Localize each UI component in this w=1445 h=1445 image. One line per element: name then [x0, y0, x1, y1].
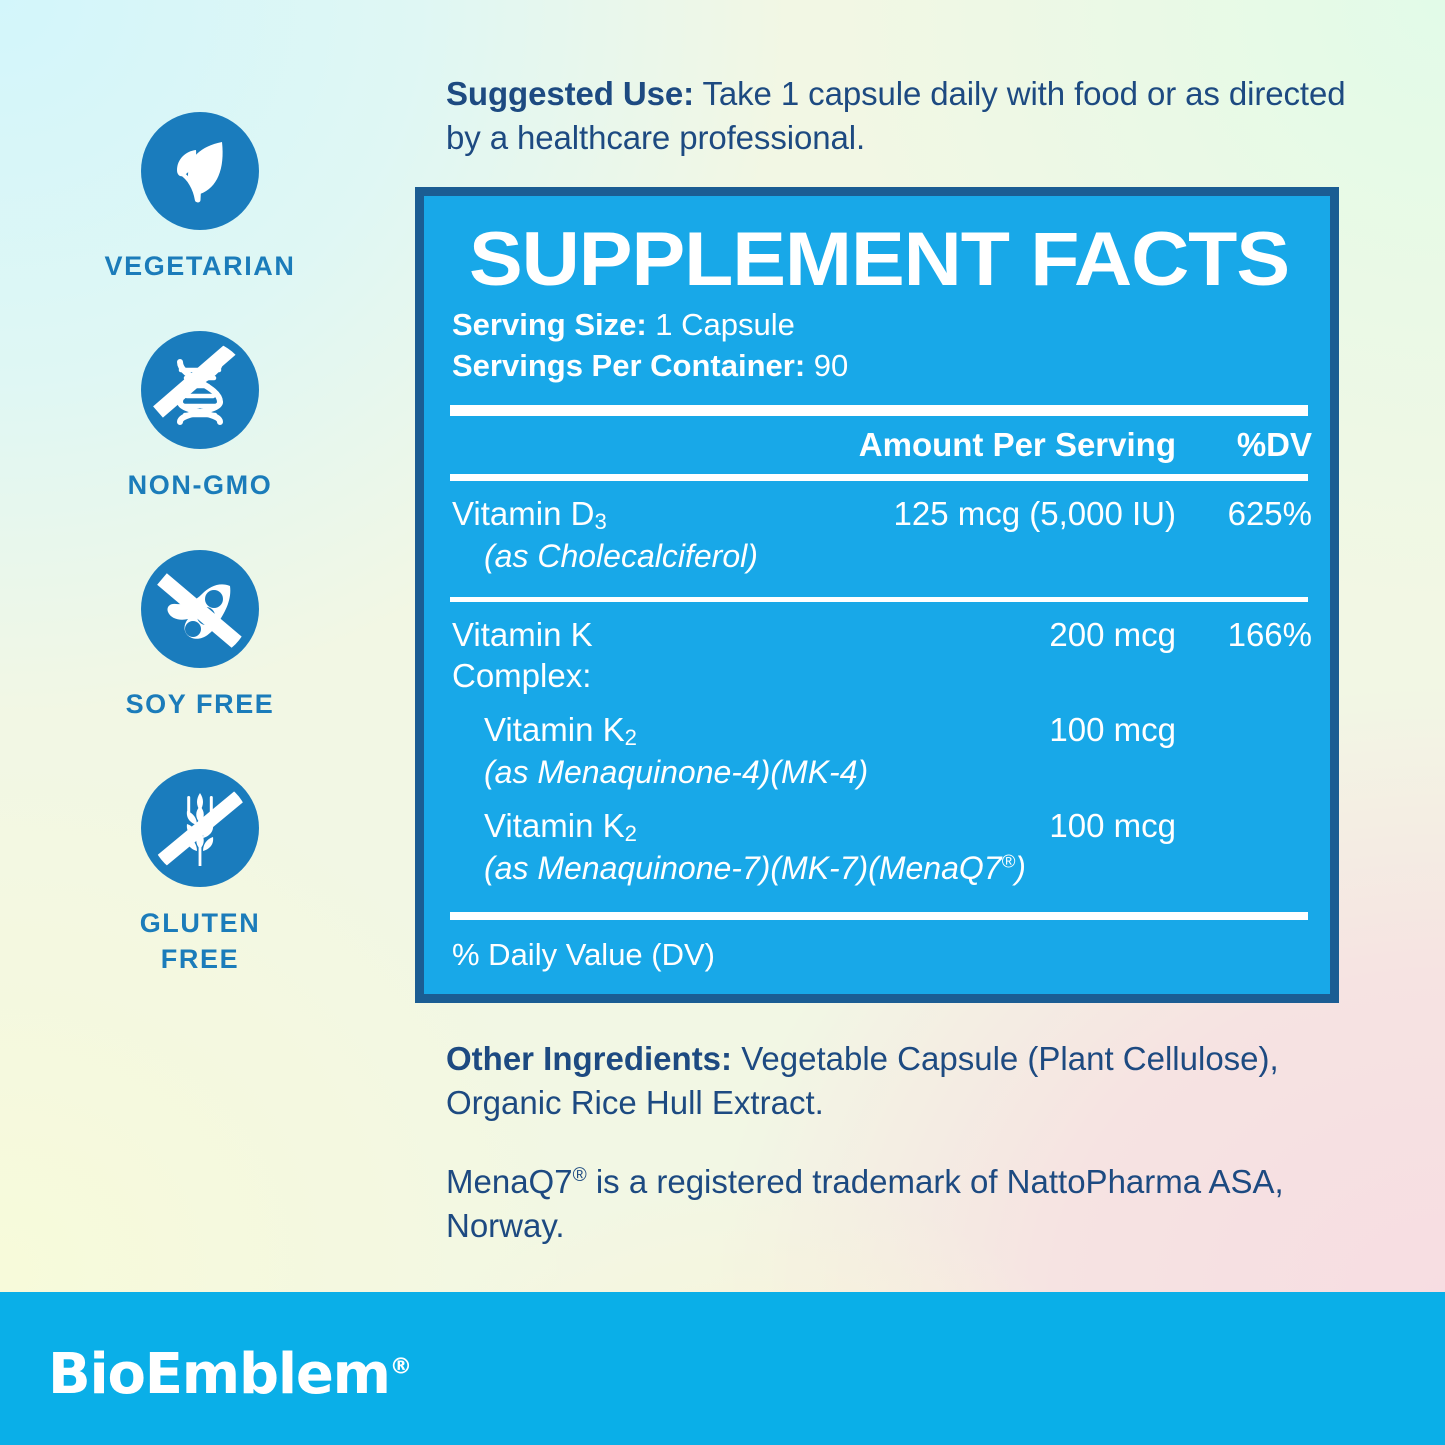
nutrient-dv: 625% — [1176, 493, 1312, 535]
serving-size-line: Serving Size: 1 Capsule — [452, 304, 1312, 346]
nutrient-name: Vitamin K2 — [446, 805, 696, 847]
table-row: Vitamin K Complex: 200 mcg 166% — [446, 602, 1312, 697]
badge-soy-free: SOY FREE — [35, 550, 365, 723]
badge-label: NON-GMO — [35, 468, 365, 504]
nutrient-name: Vitamin K Complex: — [446, 614, 696, 697]
trademark-note: MenaQ7® is a registered trademark of Nat… — [415, 1160, 1415, 1248]
badge-non-gmo: NON-GMO — [35, 331, 365, 504]
badge-gluten-free: GLUTEN FREE — [35, 769, 365, 978]
other-ingredients-label: Other Ingredients: — [446, 1040, 732, 1077]
nutrient-subscript: 2 — [625, 821, 637, 846]
serving-size-label: Serving Size: — [452, 307, 647, 342]
brand-name: BioEmblem — [48, 1342, 390, 1407]
serving-size-value: 1 Capsule — [647, 307, 795, 342]
nutrient-source: (as Cholecalciferol) — [446, 534, 1312, 590]
wheat-no-icon — [141, 769, 259, 887]
nutrient-subscript: 3 — [594, 509, 606, 534]
nutrient-amount: 200 mcg — [696, 614, 1176, 656]
bioemblem-logo: BioEmblem® — [48, 1342, 411, 1407]
other-ingredients-text: Other Ingredients: Vegetable Capsule (Pl… — [415, 1037, 1415, 1125]
registered-trademark-icon: ® — [573, 1165, 587, 1186]
soybean-no-icon — [141, 550, 259, 668]
daily-value-footnote: % Daily Value (DV) — [446, 920, 1312, 993]
dna-no-icon — [141, 331, 259, 449]
nutrient-amount: 100 mcg — [696, 709, 1176, 751]
main-content: Suggested Use: Take 1 capsule daily with… — [415, 0, 1415, 1248]
divider-header — [450, 474, 1308, 481]
nutrient-subscript: 2 — [625, 725, 637, 750]
nutrient-amount: 100 mcg — [696, 805, 1176, 847]
certification-badge-list: VEGETARIAN — [0, 112, 400, 978]
badge-label: GLUTEN FREE — [35, 906, 365, 978]
nutrient-name: Vitamin K2 — [446, 709, 696, 751]
nutrient-source: (as Menaquinone-7)(MK-7)(MenaQ7®) — [446, 846, 1312, 902]
table-row: Vitamin D3 125 mcg (5,000 IU) 625% — [446, 481, 1312, 535]
suggested-use-text: Suggested Use: Take 1 capsule daily with… — [415, 72, 1415, 159]
table-row: Vitamin K2 100 mcg — [446, 793, 1312, 847]
nutrient-amount: 125 mcg (5,000 IU) — [696, 493, 1176, 535]
registered-trademark-icon: ® — [390, 1353, 411, 1379]
servings-per-container-value: 90 — [805, 348, 848, 383]
brand-footer-bar: BioEmblem® — [0, 1292, 1445, 1445]
badge-label: VEGETARIAN — [35, 249, 365, 285]
badge-vegetarian: VEGETARIAN — [35, 112, 365, 285]
servings-per-container-label: Servings Per Container: — [452, 348, 805, 383]
nutrient-source: (as Menaquinone-4)(MK-4) — [446, 750, 1312, 792]
nutrient-name: Vitamin D3 — [446, 493, 696, 535]
leaf-icon — [141, 112, 259, 230]
servings-per-container-line: Servings Per Container: 90 — [452, 345, 1312, 387]
badge-label-line1: GLUTEN — [140, 908, 261, 938]
nutrient-dv: 166% — [1176, 614, 1312, 656]
column-header-dv: %DV — [1176, 426, 1312, 464]
divider-bottom — [450, 912, 1308, 920]
table-row: Vitamin K2 100 mcg — [446, 697, 1312, 751]
badge-label-line2: FREE — [161, 944, 239, 974]
registered-trademark-icon: ® — [1002, 850, 1016, 871]
supplement-facts-panel: SUPPLEMENT FACTS Serving Size: 1 Capsule… — [415, 187, 1339, 1003]
divider-top — [450, 405, 1308, 416]
table-column-headers: Amount Per Serving %DV — [446, 416, 1312, 468]
badge-label: SOY FREE — [35, 687, 365, 723]
supplement-facts-title: SUPPLEMENT FACTS — [420, 223, 1338, 297]
suggested-use-label: Suggested Use: — [446, 75, 694, 112]
column-header-amount: Amount Per Serving — [696, 426, 1176, 464]
